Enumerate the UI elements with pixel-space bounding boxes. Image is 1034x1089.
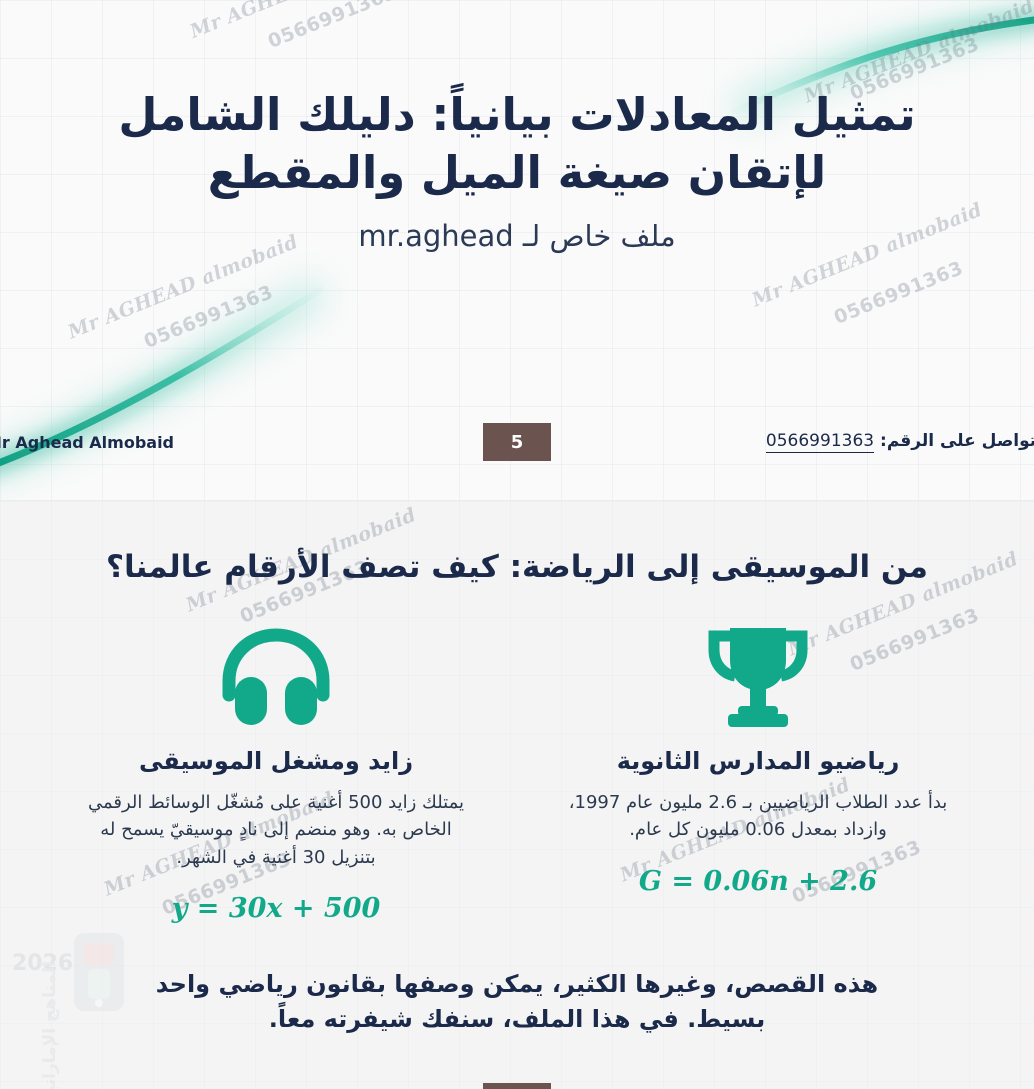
footer-contact-label: للتواصل على الرقم: [880, 431, 1034, 451]
story-card-formula: y = 30x + 500 [50, 893, 502, 924]
watermark-name: Mr AGHEAD [187, 0, 322, 43]
headphones-icon [50, 619, 502, 735]
footer-contact-phone: 0566991363 [766, 431, 874, 453]
page-title: تمثيل المعادلات بيانياً: دليلك الشامل لإ… [0, 86, 1034, 201]
document-viewport[interactable]: Mr AGHEAD 0566991363 Mr AGHEAD almobaid … [0, 0, 1034, 1089]
story-card-title: رياضيو المدارس الثانوية [532, 747, 984, 775]
story-card-body: يمتلك زايد 500 أغنية على مُشغّل الوسائط … [50, 789, 502, 871]
section-heading: من الموسيقى إلى الرياضة: كيف تصف الأرقام… [0, 549, 1034, 585]
story-card-athletes: رياضيو المدارس الثانوية بدأ عدد الطلاب ا… [532, 619, 984, 924]
watermark-phone: 0566991363 [265, 0, 400, 53]
title-block: تمثيل المعادلات بيانياً: دليلك الشامل لإ… [0, 86, 1034, 253]
next-page-number-badge [483, 1083, 551, 1089]
story-card-title: زايد ومشغل الموسيقى [50, 747, 502, 775]
trophy-icon [532, 619, 984, 735]
story-card-music: زايد ومشغل الموسيقى يمتلك زايد 500 أغنية… [50, 619, 502, 924]
story-cards: زايد ومشغل الموسيقى يمتلك زايد 500 أغنية… [0, 619, 1034, 924]
footer-contact: للتواصل على الرقم: 0566991363 [766, 431, 1034, 453]
story-card-formula: G = 0.06n + 2.6 [532, 866, 984, 897]
document-page-2: 2026 المناهج الإماراتية Mr AGHEAD almoba… [0, 500, 1034, 1089]
story-card-body: بدأ عدد الطلاب الرياضيين بـ 2.6 مليون عا… [532, 789, 984, 844]
page-number-badge: 5 [483, 423, 551, 461]
document-page-1: Mr AGHEAD 0566991363 Mr AGHEAD almobaid … [0, 0, 1034, 500]
watermark-phone: 0566991363 [831, 257, 966, 329]
watermark-phone: 0566991363 [141, 281, 276, 353]
footer-author: Mr Aghead Almobaid [0, 433, 174, 452]
closing-note: هذه القصص، وغيرها الكثير، يمكن وصفها بقا… [0, 967, 1034, 1037]
page-1-footer: Mr Aghead Almobaid 5 للتواصل على الرقم: … [0, 422, 1034, 462]
page-subtitle: ملف خاص لـ mr.aghead [0, 219, 1034, 253]
